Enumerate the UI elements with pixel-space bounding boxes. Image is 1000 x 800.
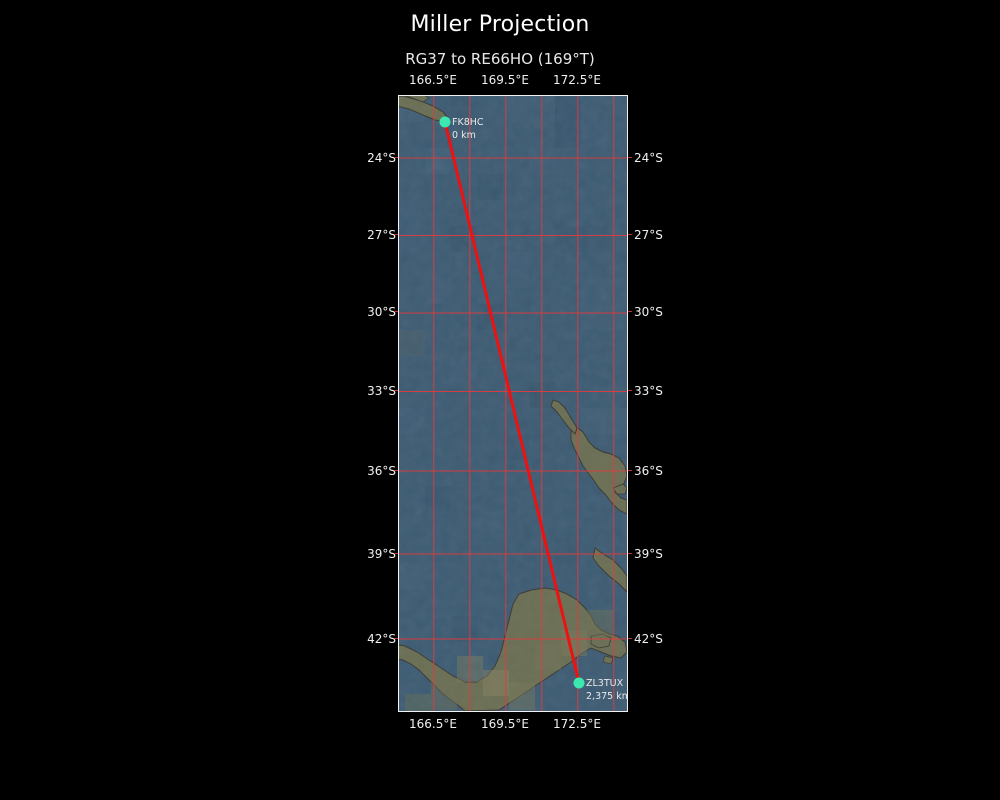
map-viewport: FK8HC 0 km ZL3TUX 2,375 km [399,96,627,711]
lat-tick-mark-left-6 [394,638,398,639]
lat-tick-right-1: 27°S [634,228,663,242]
lat-tick-right-3: 33°S [634,384,663,398]
lat-tick-left-3: 33°S [367,384,396,398]
map-figure: Miller Projection RG37 to RE66HO (169°T)… [0,0,1000,800]
lat-tick-mark-left-1 [394,234,398,235]
lat-tick-left-0: 24°S [367,151,396,165]
lat-tick-right-2: 30°S [634,305,663,319]
route-subtitle: RG37 to RE66HO (169°T) [0,50,1000,68]
lat-tick-mark-left-5 [394,553,398,554]
start-marker[interactable] [440,117,451,128]
lat-tick-right-5: 39°S [634,547,663,561]
lat-tick-right-4: 36°S [634,464,663,478]
lon-tick-bottom-0: 166.5°E [397,717,469,731]
map-canvas[interactable]: FK8HC 0 km ZL3TUX 2,375 km [398,95,628,712]
end-distance-label: 2,375 km [586,691,627,702]
lon-tick-bottom-1: 169.5°E [469,717,541,731]
lat-tick-mark-right-6 [628,638,632,639]
lat-tick-mark-right-1 [628,234,632,235]
lat-tick-right-6: 42°S [634,632,663,646]
lon-tick-bottom-2: 172.5°E [541,717,613,731]
lat-tick-mark-left-3 [394,390,398,391]
lat-tick-mark-left-4 [394,470,398,471]
lat-tick-mark-right-3 [628,390,632,391]
lat-tick-left-1: 27°S [367,228,396,242]
end-callsign-label: ZL3TUX [586,678,624,689]
lat-tick-left-5: 39°S [367,547,396,561]
lat-tick-right-0: 24°S [634,151,663,165]
lat-tick-mark-right-5 [628,553,632,554]
lat-tick-mark-left-0 [394,157,398,158]
lat-tick-left-2: 30°S [367,305,396,319]
lat-tick-mark-left-2 [394,311,398,312]
lat-tick-left-6: 42°S [367,632,396,646]
page-title: Miller Projection [0,12,1000,37]
lon-tick-top-2: 172.5°E [541,73,613,87]
end-marker[interactable] [574,678,585,689]
start-distance-label: 0 km [452,130,476,141]
lat-tick-mark-right-0 [628,157,632,158]
lon-tick-top-1: 169.5°E [469,73,541,87]
map-graphics: FK8HC 0 km ZL3TUX 2,375 km [399,96,627,711]
lat-tick-mark-right-2 [628,311,632,312]
lat-tick-left-4: 36°S [367,464,396,478]
lon-tick-top-0: 166.5°E [397,73,469,87]
start-callsign-label: FK8HC [452,117,484,128]
lat-tick-mark-right-4 [628,470,632,471]
